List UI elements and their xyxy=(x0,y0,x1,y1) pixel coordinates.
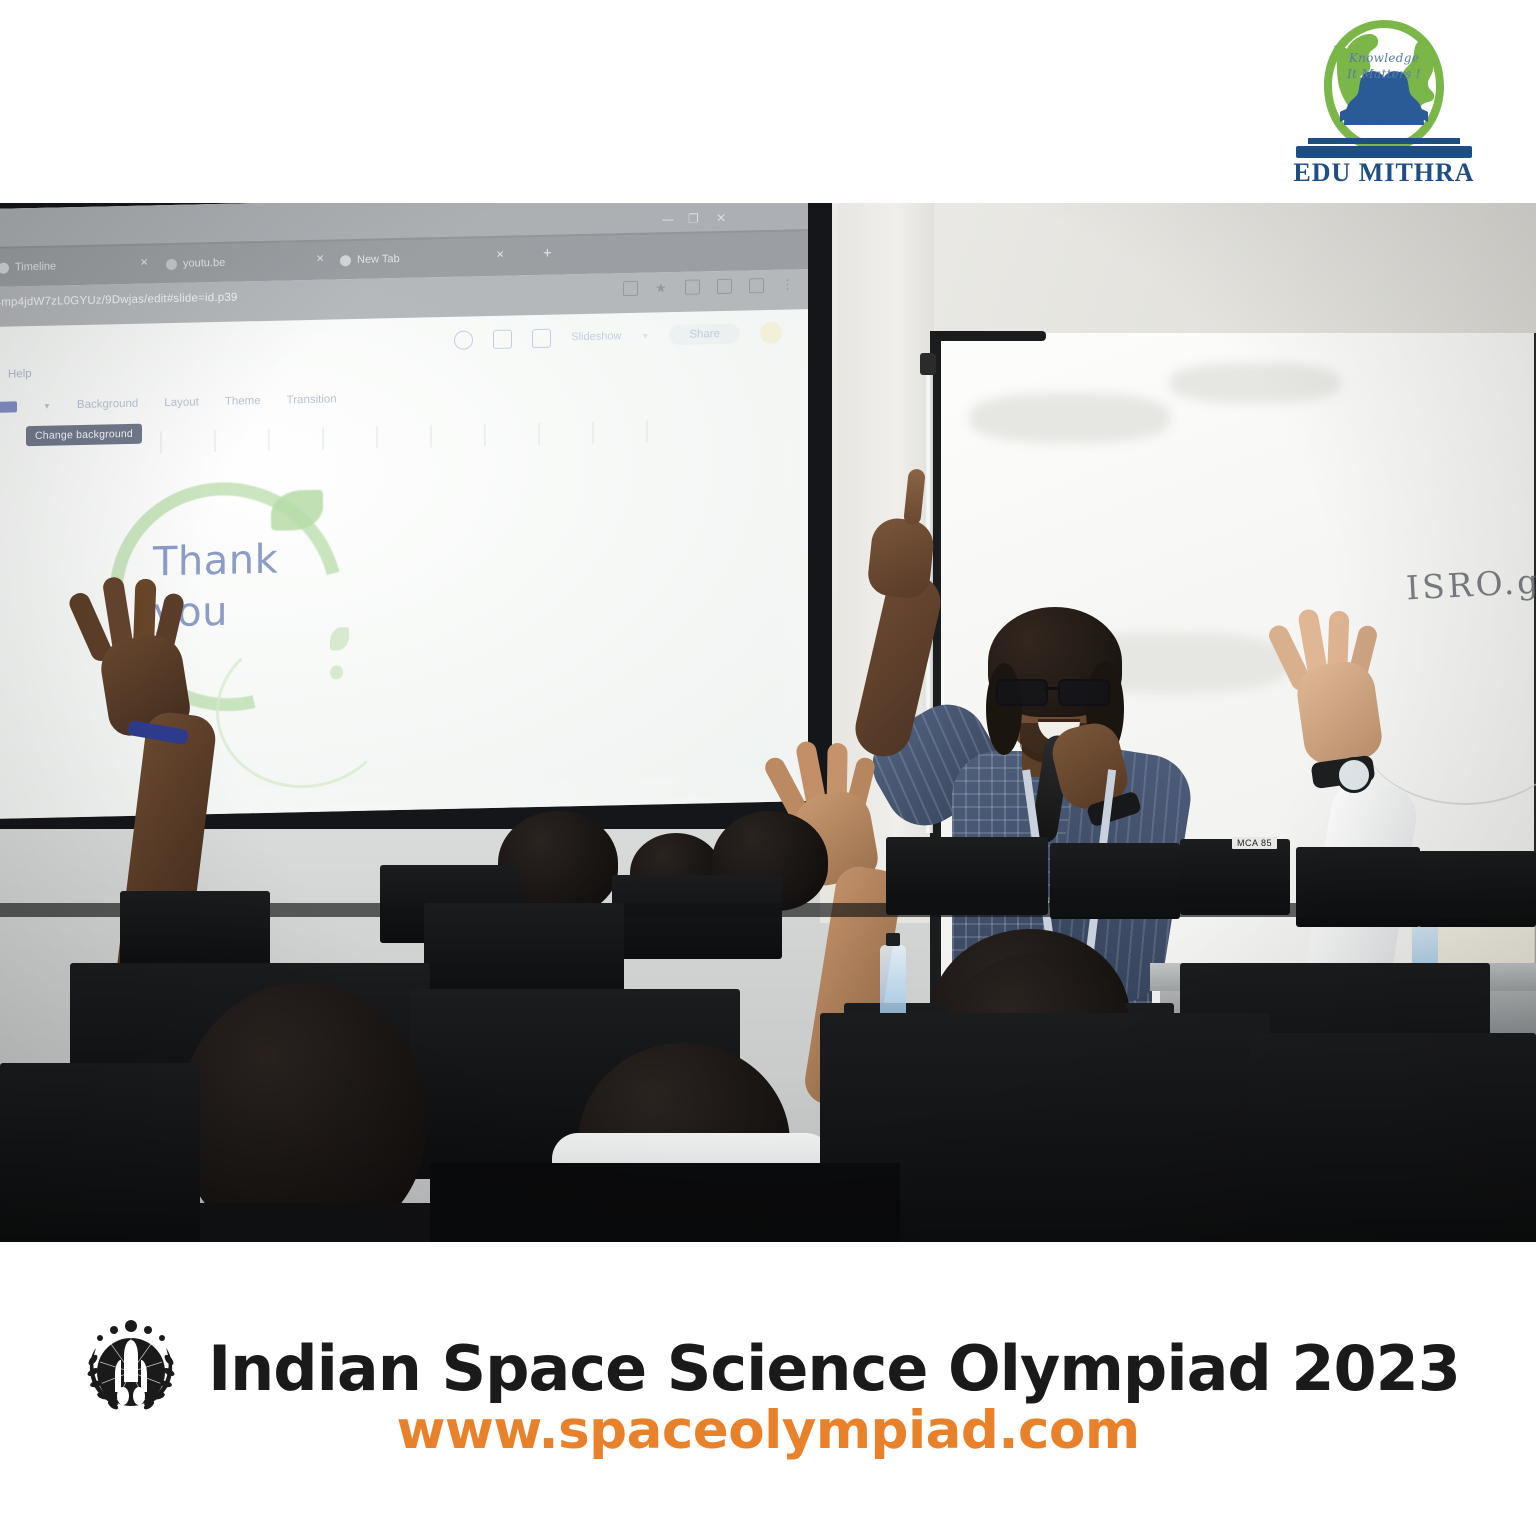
chevron-down-icon[interactable]: ▼ xyxy=(43,401,51,410)
extensions-icon[interactable] xyxy=(685,279,700,294)
bottle-cap xyxy=(886,933,900,946)
share-icon[interactable] xyxy=(623,281,638,296)
toolbar-theme-button[interactable]: Theme xyxy=(225,395,261,408)
event-website-url[interactable]: www.spaceolympiad.com xyxy=(0,1400,1536,1461)
monitor-asset-label: MCA 85 xyxy=(1232,837,1277,849)
water-bottle xyxy=(880,945,906,1023)
browser-tab-title: youtu.be xyxy=(183,257,225,270)
browser-tab-title: Timeline xyxy=(15,261,56,274)
slides-toolbar: ▼ Background Layout Theme Transition xyxy=(0,393,337,412)
slides-right-controls: Slideshow ▼ Share xyxy=(454,322,782,351)
whiteboard-smudge xyxy=(1170,363,1340,403)
promotional-poster: Knowledge It Matters ! EDU MITHRA ISRO.g xyxy=(0,0,1536,1536)
toolbar-layout-button[interactable]: Layout xyxy=(164,396,199,409)
window-maximize-button[interactable]: ❐ xyxy=(688,211,699,225)
new-tab-button[interactable]: + xyxy=(543,245,552,262)
monitor-foreground xyxy=(1250,1033,1536,1242)
event-title: Indian Space Science Olympiad 2023 xyxy=(208,1332,1460,1405)
edu-mithra-logo: Knowledge It Matters ! EDU MITHRA xyxy=(1274,14,1494,192)
screen-rod-cap xyxy=(920,353,936,375)
browser-tab-youtube[interactable]: youtu.be xyxy=(166,252,225,275)
google-slides-ui: Slideshow ▼ Share Help ▼ Background Layo… xyxy=(0,313,808,461)
logo-shelf-upper xyxy=(1308,138,1460,144)
user-avatar[interactable] xyxy=(760,322,782,344)
downloads-icon[interactable] xyxy=(749,278,764,293)
browser-tab-timeline[interactable]: Timeline xyxy=(0,256,56,279)
logo-tagline-line1: Knowledge xyxy=(1274,50,1494,66)
palm xyxy=(1294,658,1385,766)
presenter-glasses xyxy=(996,679,1112,702)
kebab-menu-icon[interactable]: ⋮ xyxy=(781,278,794,291)
menu-item-help[interactable]: Help xyxy=(8,368,32,381)
chevron-down-icon[interactable]: ▼ xyxy=(641,331,649,340)
presenter-hand-right xyxy=(866,516,936,600)
timeline-icon xyxy=(0,262,9,273)
browser-tab-title: New Tab xyxy=(357,253,400,266)
presentation-mode-select[interactable]: Slideshow xyxy=(571,330,621,343)
chrome-icon xyxy=(340,255,351,266)
globe-icon xyxy=(1304,16,1464,156)
youtube-icon xyxy=(166,258,177,269)
browser-tab-newtab[interactable]: New Tab xyxy=(340,248,400,271)
glasses-lens-left xyxy=(996,679,1048,706)
present-icon[interactable] xyxy=(532,328,551,347)
event-photograph: ISRO.g Timeline xyxy=(0,203,1536,1242)
slide-heading-line1: Thank xyxy=(153,535,278,589)
window-close-button[interactable]: ✕ xyxy=(716,211,726,225)
comment-icon[interactable] xyxy=(493,329,512,348)
monitor-foreground xyxy=(0,1063,200,1242)
header-band: Knowledge It Matters ! EDU MITHRA xyxy=(0,0,1536,203)
whiteboard-smudge xyxy=(970,393,1170,443)
whiteboard-frame-top xyxy=(930,331,1046,341)
toolbar-transition-button[interactable]: Transition xyxy=(287,393,337,406)
tab-close-icon[interactable]: ✕ xyxy=(140,258,148,269)
footer-band: Indian Space Science Olympiad 2023 www.s… xyxy=(0,1242,1536,1536)
presenter-hair-left xyxy=(986,663,1022,755)
version-history-icon[interactable] xyxy=(454,330,473,349)
desk-shadow xyxy=(430,1163,900,1242)
monitor xyxy=(612,875,782,959)
toolbar-background-button[interactable]: Background xyxy=(77,398,138,411)
logo-tagline-line2: It Matters ! xyxy=(1274,66,1494,82)
color-swatch-icon[interactable] xyxy=(0,401,17,412)
logo-wordmark: EDU MITHRA xyxy=(1274,158,1494,188)
bookmark-star-icon[interactable]: ★ xyxy=(655,281,668,294)
whiteboard-handwriting: ISRO.g xyxy=(1405,561,1536,607)
split-view-icon[interactable] xyxy=(717,279,732,294)
glasses-lens-right xyxy=(1058,679,1110,706)
logo-tagline: Knowledge It Matters ! xyxy=(1274,50,1494,82)
slides-menubar: Help xyxy=(8,368,32,381)
logo-shelf xyxy=(1296,146,1472,158)
window-minimize-button[interactable]: — xyxy=(662,212,674,226)
share-button[interactable]: Share xyxy=(669,324,740,346)
tab-close-icon[interactable]: ✕ xyxy=(496,250,504,261)
wristwatch-face xyxy=(1336,757,1372,793)
tab-close-icon[interactable]: ✕ xyxy=(316,254,324,265)
